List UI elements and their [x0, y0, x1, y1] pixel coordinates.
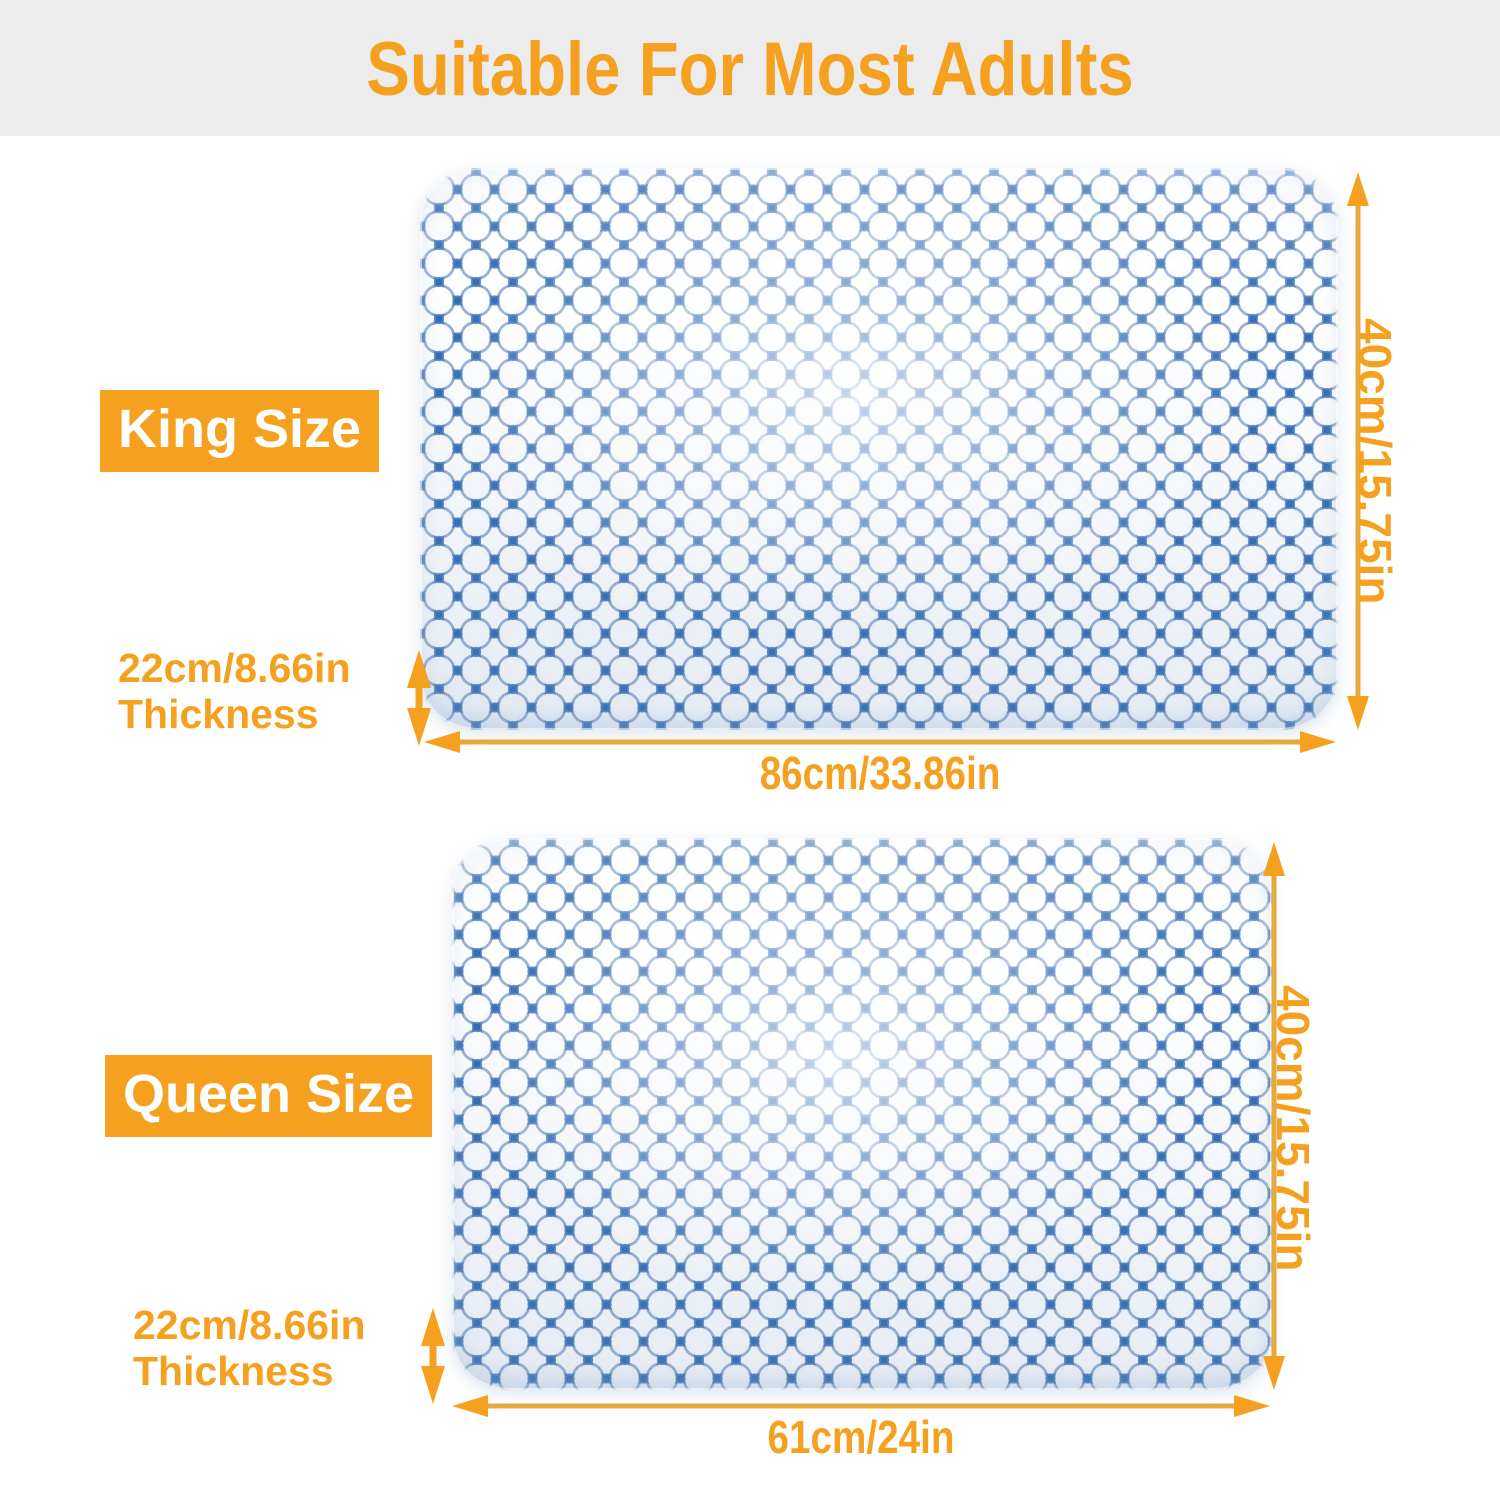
- pillow-image-queen: [452, 838, 1272, 1390]
- height-label-queen: 40cm/15.75in: [1268, 985, 1318, 1271]
- size-badge-queen: Queen Size: [105, 1055, 432, 1137]
- height-label-king: 40cm/15.75in: [1350, 318, 1400, 604]
- size-badge-king: King Size: [100, 390, 379, 472]
- width-label-queen: 61cm/24in: [517, 1412, 1204, 1462]
- thickness-label-king: 22cm/8.66in Thickness: [118, 645, 351, 737]
- fabric-texture: [420, 168, 1338, 730]
- page-title: Suitable For Most Adults: [105, 30, 1395, 110]
- thickness-label-queen: 22cm/8.66in Thickness: [133, 1302, 366, 1394]
- thickness-value-king: 22cm/8.66in: [118, 645, 351, 691]
- thickness-value-queen: 22cm/8.66in: [133, 1302, 366, 1348]
- infographic-canvas: Suitable For Most Adults King Size 40cm/…: [0, 0, 1500, 1500]
- thickness-word-king: Thickness: [118, 691, 319, 737]
- thickness-arrow-queen: [418, 1308, 448, 1404]
- fabric-texture: [452, 838, 1272, 1390]
- thickness-arrow-king: [404, 650, 434, 746]
- thickness-word-queen: Thickness: [133, 1348, 334, 1394]
- pillow-image-king: [420, 168, 1338, 730]
- width-label-king: 86cm/33.86in: [497, 748, 1263, 798]
